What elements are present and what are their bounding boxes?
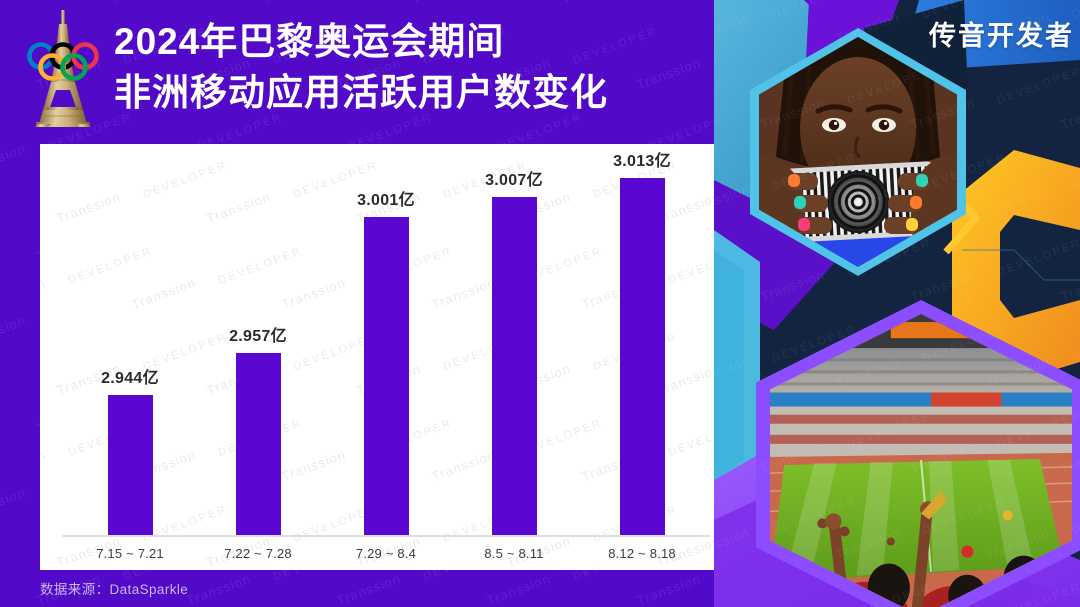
- bar: [236, 353, 281, 535]
- watermark-text: Transsion: [409, 0, 477, 6]
- x-axis-tick-labels: 7.15 ~ 7.217.22 ~ 7.287.29 ~ 8.48.5 ~ 8.…: [40, 537, 728, 570]
- x-tick-label: 7.15 ~ 7.21: [66, 537, 194, 570]
- watermark-text: Transsion: [634, 571, 702, 607]
- x-tick-label: 8.5 ~ 8.11: [450, 537, 578, 570]
- x-tick-label: 7.29 ~ 8.4: [322, 537, 450, 570]
- bar-group: 2.944亿: [66, 144, 194, 535]
- brand-wordmark: 传音开发者: [929, 14, 1074, 53]
- watermark-text: Transsion: [109, 0, 177, 6]
- title-line-1: 2024年巴黎奥运会期间: [114, 16, 714, 67]
- watermark-text: Transsion: [484, 571, 552, 607]
- watermark-text: Transsion: [559, 0, 627, 6]
- bar-group: 3.001亿: [322, 144, 450, 535]
- data-source-note: 数据来源：DataSparkle: [40, 578, 188, 598]
- eiffel-tower-olympic-rings-icon: [13, 6, 113, 132]
- bar-group: 3.007亿: [450, 144, 578, 535]
- x-tick-label: 8.12 ~ 8.18: [578, 537, 706, 570]
- hex-photo-frame-gamer: [750, 28, 966, 276]
- bar: [364, 217, 409, 535]
- watermark-text: Transsion: [184, 571, 252, 607]
- bar-group: 3.013亿: [578, 144, 706, 535]
- right-graphic-panel: TranssionDEVELOPERTranssionDEVELOPERTran…: [714, 0, 1080, 607]
- watermark-text: Transsion: [0, 485, 28, 522]
- bar-series: 2.944亿2.957亿3.001亿3.007亿3.013亿: [40, 144, 728, 535]
- x-tick-label: 7.22 ~ 7.28: [194, 537, 322, 570]
- bar: [492, 197, 537, 535]
- hex-photo-frame-stadium: [756, 300, 1080, 607]
- bar: [620, 178, 665, 535]
- bar-chart: 2.944亿2.957亿3.001亿3.007亿3.013亿 7.15 ~ 7.…: [40, 144, 728, 570]
- bar-value-label: 3.007亿: [485, 166, 543, 190]
- poster-canvas: TranssionDEVELOPERTranssionDEVELOPERTran…: [0, 0, 1080, 607]
- watermark-text: Transsion: [334, 571, 402, 607]
- bar-value-label: 3.013亿: [613, 147, 671, 171]
- bar-value-label: 3.001亿: [357, 186, 415, 210]
- bar-group: 2.957亿: [194, 144, 322, 535]
- page-title: 2024年巴黎奥运会期间 非洲移动应用活跃用户数变化: [114, 16, 714, 118]
- bar-value-label: 2.957亿: [229, 322, 287, 346]
- watermark-text: Transsion: [0, 141, 28, 178]
- title-line-2: 非洲移动应用活跃用户数变化: [114, 67, 714, 118]
- chart-card: TranssionDEVELOPERTranssionDEVELOPERTran…: [40, 144, 728, 570]
- left-content-panel: TranssionDEVELOPERTranssionDEVELOPERTran…: [0, 0, 756, 607]
- watermark-text: Transsion: [0, 313, 28, 350]
- bar: [108, 395, 153, 535]
- watermark-text: Transsion: [259, 0, 327, 6]
- bar-value-label: 2.944亿: [101, 364, 159, 388]
